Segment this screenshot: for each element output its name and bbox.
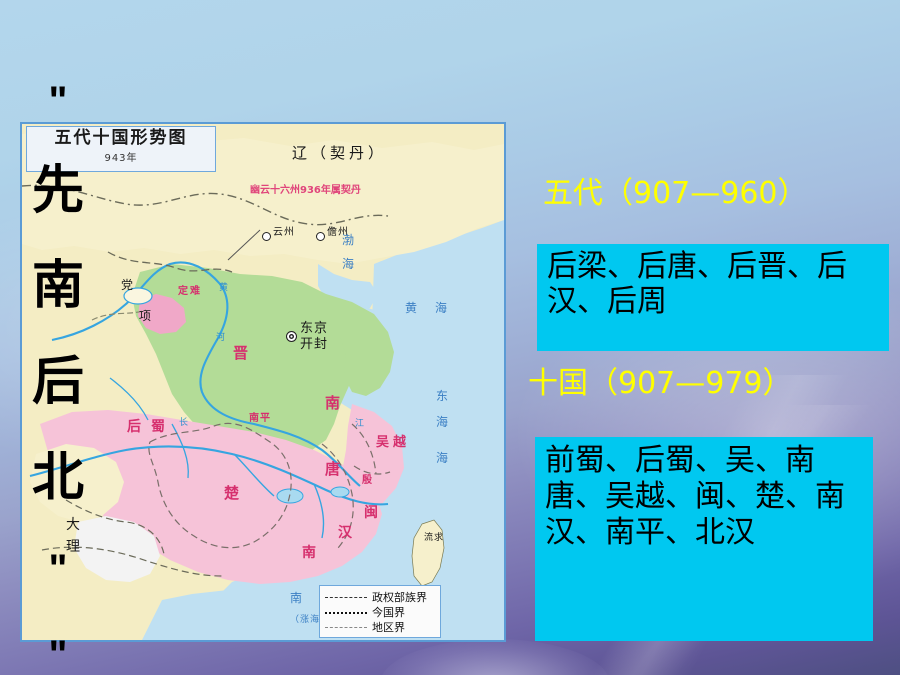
city-dot-danzhou <box>316 232 325 241</box>
map-legend: 政权部族界 今国界 地区界 <box>319 585 441 638</box>
legend-row-0: 政权部族界 <box>325 590 435 605</box>
legend-key-regime-boundary-icon <box>325 593 367 603</box>
quote-open-2: " <box>26 636 90 674</box>
legend-row-2: 地区界 <box>325 620 435 635</box>
background-glow <box>380 639 610 675</box>
textbox-wudai-dynasties: 后梁、后唐、后晋、后汉、后周 <box>537 244 889 351</box>
historical-map: 五代十国形势图 943年 辽（契丹） 幽云十六州936年属契丹 云州 儋州 党 … <box>20 122 506 642</box>
textbox-shiguo-states: 前蜀、后蜀、吴、南唐、吴越、闽、楚、南汉、南平、北汉 <box>535 437 873 641</box>
legend-label-0: 政权部族界 <box>372 592 427 603</box>
map-graphic <box>22 124 504 640</box>
legend-key-region-boundary-icon <box>325 623 367 633</box>
quote-close-1: " <box>26 550 90 588</box>
left-vertical-quote: " 先 南 后 北 " " 先 易 后 难 " <box>26 34 90 675</box>
quote-char-1: 先 <box>26 168 90 216</box>
legend-label-1: 今国界 <box>372 607 405 618</box>
quote-char-2: 南 <box>26 263 90 311</box>
legend-row-1: 今国界 <box>325 605 435 620</box>
heading-wudai: 五代（907—960） <box>543 168 808 212</box>
quote-char-3: 后 <box>26 359 90 407</box>
quote-open-1: " <box>26 82 90 120</box>
city-dot-dongjing-kaifeng <box>286 331 297 342</box>
legend-label-2: 地区界 <box>372 622 405 633</box>
quote-char-4: 北 <box>26 455 90 503</box>
heading-shiguo: 十国（907—979） <box>528 358 793 402</box>
legend-key-national-boundary-icon <box>325 608 367 618</box>
slide-canvas: " 先 南 后 北 " " 先 易 后 难 " <box>0 0 900 675</box>
city-dot-yunzhou <box>262 232 271 241</box>
